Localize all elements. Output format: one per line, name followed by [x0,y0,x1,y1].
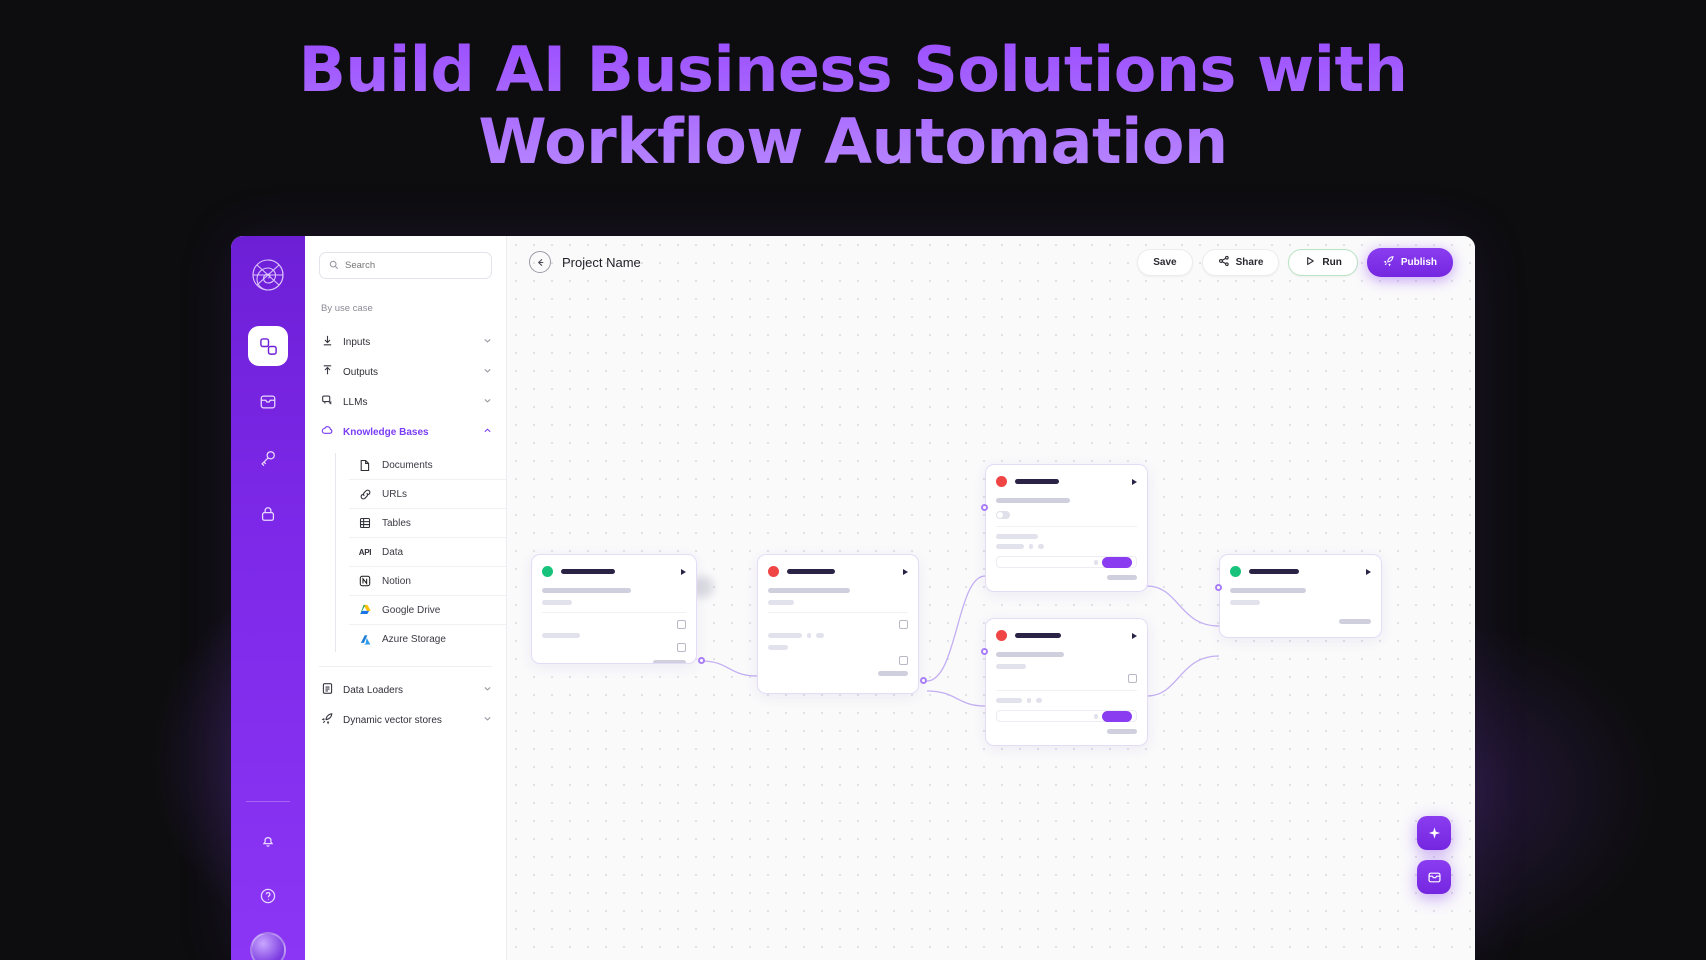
help-circle-icon[interactable] [248,876,288,916]
status-dot [996,630,1007,641]
rocket-icon [1383,255,1395,270]
node-run-icon[interactable] [903,569,908,575]
search-icon [329,257,339,275]
chevron-down-icon [483,336,492,348]
workflow-canvas[interactable]: Project Name Save Share [507,236,1475,960]
sidebar-item-label: Notion [382,576,411,587]
data-loader-icon [321,682,334,698]
status-dot [542,566,553,577]
chat-bot-icon [321,394,334,410]
upload-icon [321,364,334,380]
notion-icon [357,573,373,589]
publish-label: Publish [1401,257,1437,268]
sidebar-item-data[interactable]: API Data [349,538,506,567]
avatar[interactable] [250,932,286,960]
rail-bottom-group [231,801,305,960]
sidebar-item-label: Azure Storage [382,634,446,645]
chevron-down-icon [483,366,492,378]
save-label: Save [1153,257,1176,268]
node-edit-icon[interactable] [677,620,686,629]
save-button[interactable]: Save [1137,249,1192,276]
node-run-icon[interactable] [1132,633,1137,639]
status-dot [768,566,779,577]
nautilus-shell-logo[interactable] [247,254,289,296]
node-input-port[interactable] [1215,584,1222,591]
run-label: Run [1322,257,1341,268]
link-icon [357,486,373,502]
sidebar-item-inbox[interactable] [248,382,288,422]
page-root: Build AI Business Solutions with Workflo… [0,0,1706,960]
toolbar-actions: Save Share [1137,248,1453,277]
search-input[interactable] [345,260,482,271]
sidebar-item-documents[interactable]: Documents [349,451,506,480]
node-title-placeholder [1249,569,1299,574]
sidebar-group-data-loaders[interactable]: Data Loaders [305,675,506,705]
azure-storage-icon [357,632,373,648]
notifications-bell-icon[interactable] [248,820,288,860]
workflow-node[interactable] [531,554,697,664]
ai-assistant-fab[interactable] [1417,816,1451,850]
hero-line-1: Build AI Business Solutions with [299,33,1408,106]
node-run-icon[interactable] [1132,479,1137,485]
sidebar-item-label: Data [382,547,403,558]
sidebar-item-security[interactable] [248,494,288,534]
icon-rail [231,236,305,960]
sidebar-item-label: URLs [382,489,407,500]
sidebar-group-dynamic-vector-stores[interactable]: Dynamic vector stores [305,705,506,735]
sidebar-item-label: Google Drive [382,605,440,616]
rail-divider [246,801,290,802]
api-icon: API [357,544,373,560]
sidebar-group-label: Dynamic vector stores [343,715,442,726]
sidebar-group-llms[interactable]: LLMs [305,387,506,417]
node-output-port[interactable] [920,677,927,684]
sidebar-group-inputs[interactable]: Inputs [305,327,506,357]
search-box[interactable] [319,252,492,279]
workflow-node[interactable] [757,554,919,694]
hero-line-2: Workflow Automation [0,106,1706,178]
share-button[interactable]: Share [1202,249,1280,276]
sidebar-item-label: Tables [382,518,411,529]
google-drive-icon [357,602,373,618]
workflow-node[interactable] [1219,554,1382,638]
chevron-down-icon [483,396,492,408]
status-dot [1230,566,1241,577]
node-title-placeholder [1015,633,1061,638]
page-title: Project Name [562,255,641,270]
sidebar-group-label: LLMs [343,397,367,408]
node-title-placeholder [561,569,615,574]
arrow-left-icon[interactable] [529,251,551,273]
messages-fab[interactable] [1417,860,1451,894]
download-icon [321,334,334,350]
cloud-icon [321,424,334,440]
left-panel: By use case Inputs [305,236,507,960]
play-icon [1304,255,1316,270]
panel-divider [319,666,492,667]
workflow-node[interactable] [985,618,1148,746]
table-icon [357,515,373,531]
sidebar-group-label: Data Loaders [343,685,403,696]
rocket-icon [321,712,334,728]
sidebar-item-tables[interactable]: Tables [349,509,506,538]
publish-button[interactable]: Publish [1367,248,1453,277]
chevron-down-icon [483,714,492,726]
document-icon [357,457,373,473]
sidebar-group-label: Inputs [343,337,370,348]
node-copy-icon[interactable] [677,643,686,652]
canvas-toolbar: Project Name Save Share [507,236,1475,288]
knowledge-bases-children: Documents URLs [335,451,506,654]
status-dot [996,476,1007,487]
chevron-up-icon [483,426,492,438]
sidebar-item-urls[interactable]: URLs [349,480,506,509]
hero-heading: Build AI Business Solutions with Workflo… [0,34,1706,178]
sidebar-item-workflows[interactable] [248,326,288,366]
node-edit-icon[interactable] [1128,674,1137,683]
node-input-port[interactable] [981,648,988,655]
node-input-port[interactable] [981,504,988,511]
sidebar-item-google-drive[interactable]: Google Drive [349,596,506,625]
node-run-icon[interactable] [681,569,686,575]
section-label: By use case [305,303,506,314]
run-button[interactable]: Run [1288,249,1357,276]
share-label: Share [1236,257,1264,268]
share-nodes-icon [1218,255,1230,270]
chevron-down-icon [483,684,492,696]
node-run-icon[interactable] [1366,569,1371,575]
node-edit-icon[interactable] [899,620,908,629]
workflow-node[interactable] [985,464,1148,592]
sidebar-group-knowledge-bases[interactable]: Knowledge Bases [305,417,506,447]
app-window: By use case Inputs [231,236,1475,960]
sidebar-item-label: Documents [382,460,433,471]
node-copy-icon[interactable] [899,656,908,665]
node-output-port[interactable] [698,657,705,664]
sidebar-group-outputs[interactable]: Outputs [305,357,506,387]
node-title-placeholder [787,569,835,574]
sidebar-item-notion[interactable]: Notion [349,567,506,596]
sidebar-item-azure-storage[interactable]: Azure Storage [349,625,506,654]
sidebar-item-api-keys[interactable] [248,438,288,478]
sidebar-group-label: Knowledge Bases [343,427,429,438]
node-toggle[interactable] [996,511,1010,519]
node-title-placeholder [1015,479,1059,484]
sidebar-group-label: Outputs [343,367,378,378]
